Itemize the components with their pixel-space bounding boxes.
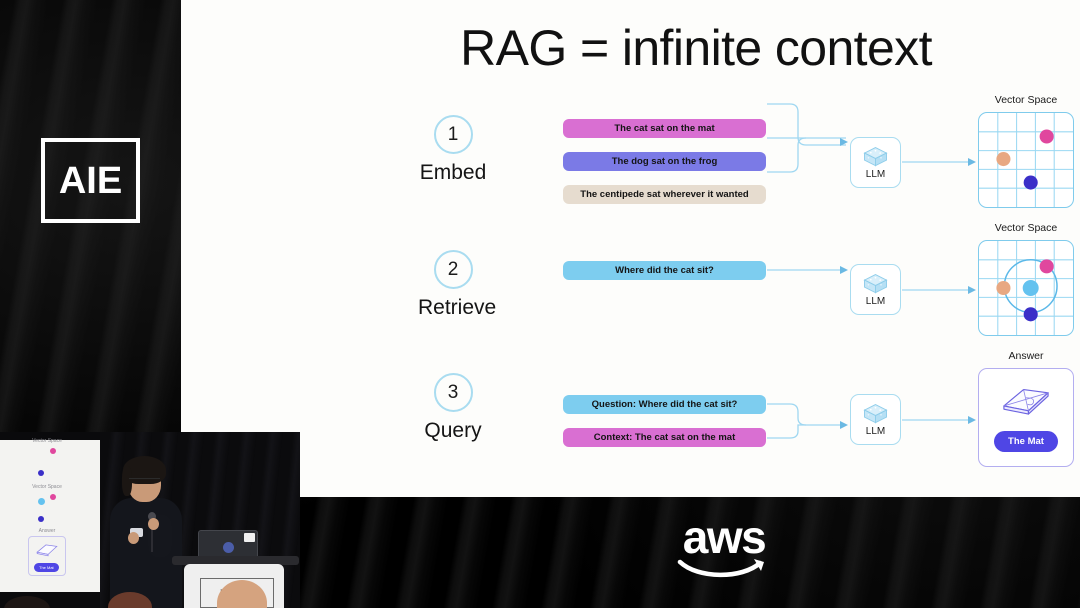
answer-box: The Mat [978,368,1074,467]
llm-node-query: LLM [850,394,901,445]
mini-point-mat [50,448,56,454]
aie-logo: AIE [41,138,140,223]
mini-caption-3: Answer [0,528,100,534]
speaker-hand-right [148,518,159,530]
llm-node-embed: LLM [850,137,901,188]
llm-label: LLM [866,426,885,437]
vector-space-panel-1: Vector Space [978,94,1074,208]
vector-space-caption: Vector Space [978,94,1074,106]
step-label-2: Retrieve [418,296,488,320]
speaker-torso [110,498,182,608]
cube-icon [862,403,889,425]
llm-node-retrieve: LLM [850,264,901,315]
query-input-pills: Question: Where did the cat sit? Context… [563,395,766,461]
step-badge-3: 3 Query [418,373,488,443]
llm-label: LLM [866,169,885,180]
mini-answer-box: The Mat [28,536,66,576]
step-number-1: 1 [434,115,473,154]
laptop-sticker-icon [244,533,255,542]
llm-label: LLM [866,296,885,307]
vector-space-grid-1 [978,112,1074,208]
aie-logo-text: AIE [59,162,122,200]
answer-panel: Answer The Mat [978,350,1074,467]
mini-mat-icon [35,542,59,558]
mini-point-frog-2 [38,516,44,522]
answer-result-pill: The Mat [994,431,1058,452]
step-row-retrieve: 2 Retrieve Where did the cat sit? [312,222,1080,342]
grid-lines [979,113,1073,207]
step-number-2: 2 [434,250,473,289]
step-row-query: 3 Query Question: Where did the cat sit?… [312,350,1080,480]
text-chunk-pill: The centipede sat wherever it wanted [563,185,766,204]
query-pill: Where did the cat sit? [563,261,766,280]
point-centipede [996,281,1010,295]
slide-title: RAG = infinite context [312,19,1080,77]
mini-caption-2: Vector Space [0,484,100,490]
step-number-3: 3 [434,373,473,412]
camera-feed-pip[interactable]: Vector Space Vector Space Answer The Mat [0,432,300,608]
retrieve-input-pills: Where did the cat sit? [563,261,766,294]
point-centipede [996,152,1010,166]
embed-input-pills: The cat sat on the mat The dog sat on th… [563,119,766,218]
laptop-logo-icon [223,542,234,553]
speaker-hand-left [128,532,139,544]
step-badge-1: 1 Embed [418,115,488,185]
speaker-glasses [129,478,160,486]
slide-content: RAG = infinite context 1 Embed The cat s… [312,0,1080,497]
question-pill: Question: Where did the cat sit? [563,395,766,414]
text-chunk-pill: The dog sat on the frog [563,152,766,171]
point-frog [1024,307,1038,321]
mini-point-mat-2 [50,494,56,500]
step-badge-2: 2 Retrieve [418,250,488,320]
vector-space-grid-2 [978,240,1074,336]
mini-caption-1: Vector Space [0,438,100,444]
mini-point-frog [38,470,44,476]
cube-icon [862,146,889,168]
vector-space-panel-2: Vector Space [978,222,1074,336]
answer-caption: Answer [978,350,1074,362]
presentation-slide: RAG = infinite context 1 Embed The cat s… [181,0,1080,497]
mat-icon [999,383,1053,419]
context-pill: Context: The cat sat on the mat [563,428,766,447]
video-frame: AIE aws RAG = infinite context 1 Embed T… [0,0,1080,608]
aws-logo: aws [676,519,772,581]
step-label-1: Embed [418,161,488,185]
mini-answer-pill: The Mat [34,563,59,572]
point-frog [1024,176,1038,190]
text-chunk-pill: The cat sat on the mat [563,119,766,138]
vector-space-caption: Vector Space [978,222,1074,234]
room-projection-screen: Vector Space Vector Space Answer The Mat [0,440,100,592]
step-label-3: Query [418,419,488,443]
point-mat [1040,129,1054,143]
cube-icon [862,273,889,295]
grid-lines [979,241,1073,335]
step-row-embed: 1 Embed The cat sat on the mat The dog s… [312,95,1080,215]
mini-point-query [38,498,45,505]
audience-member-2 [4,596,50,608]
aws-logo-text: aws [676,519,772,555]
point-query [1023,280,1039,296]
point-mat [1040,259,1054,273]
